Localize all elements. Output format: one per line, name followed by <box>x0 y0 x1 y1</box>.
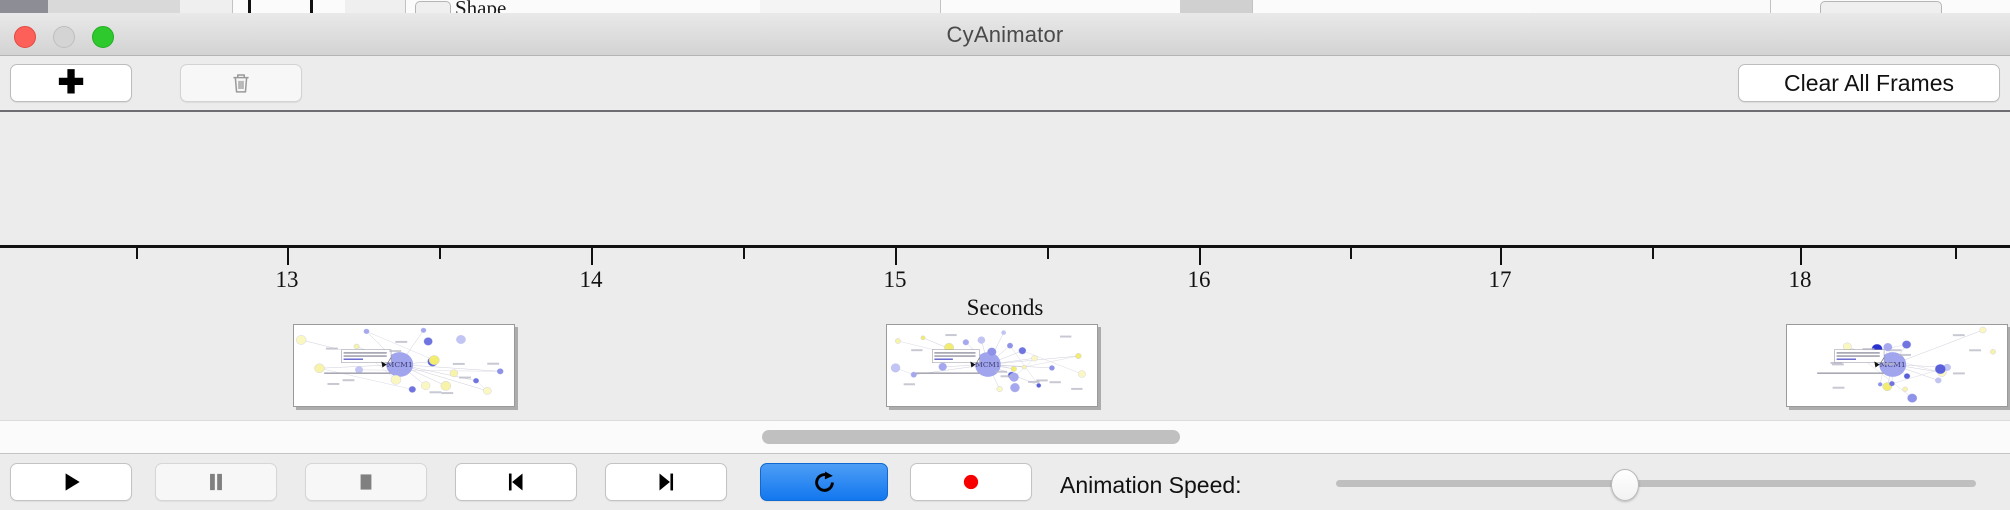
toolbar: ✚ Clear All Frames <box>0 56 2010 112</box>
axis-tick-major <box>895 248 897 265</box>
trash-icon <box>228 70 254 96</box>
timeline-frame-thumbnail[interactable]: MCM1 <box>886 324 1098 407</box>
horizontal-scrollbar[interactable] <box>0 420 2010 454</box>
axis-tick-label: 15 <box>884 267 907 293</box>
stop-icon <box>353 469 379 495</box>
axis-tick-minor <box>1955 248 1957 259</box>
plus-icon: ✚ <box>58 66 85 98</box>
stop-button[interactable] <box>305 463 427 501</box>
axis-tick-minor <box>1047 248 1049 259</box>
axis-tick-minor <box>1350 248 1352 259</box>
axis-tick-label: 16 <box>1188 267 1211 293</box>
delete-frame-button[interactable] <box>180 64 302 102</box>
cyanimator-window: Shape CyAnimator ✚ Clear All Frames MCM1… <box>0 0 2010 510</box>
animation-speed-slider[interactable] <box>1336 480 1976 487</box>
timeline-axis <box>0 245 2010 248</box>
record-icon <box>958 469 984 495</box>
timeline-frame-thumbnail[interactable]: MCM1 <box>293 324 515 407</box>
play-button[interactable] <box>10 463 132 501</box>
title-bar: CyAnimator <box>0 13 2010 56</box>
axis-tick-label: 13 <box>276 267 299 293</box>
timeline-panel[interactable]: MCM1MCM1MCM1 2131415161718 Seconds <box>0 112 2010 420</box>
pause-button[interactable] <box>155 463 277 501</box>
background-window-label: Shape <box>455 0 506 13</box>
skip-start-icon <box>503 469 529 495</box>
playback-bar: Animation Speed: <box>0 454 2010 510</box>
record-button[interactable] <box>910 463 1032 501</box>
timeline-frame-thumbnail[interactable]: MCM1 <box>1786 324 2008 407</box>
clear-all-frames-button[interactable]: Clear All Frames <box>1738 64 2000 102</box>
axis-tick-label: 18 <box>1789 267 1812 293</box>
add-frame-button[interactable]: ✚ <box>10 64 132 102</box>
axis-tick-minor <box>136 248 138 259</box>
axis-tick-major <box>1199 248 1201 265</box>
loop-icon <box>811 469 838 496</box>
previous-button[interactable] <box>455 463 577 501</box>
axis-tick-major <box>1800 248 1802 265</box>
pause-icon <box>203 469 229 495</box>
axis-tick-minor <box>1652 248 1654 259</box>
background-window-strip: Shape <box>0 0 2010 13</box>
animation-speed-label: Animation Speed: <box>1060 472 1242 499</box>
axis-title: Seconds <box>0 295 2010 321</box>
scrollbar-thumb[interactable] <box>762 430 1180 444</box>
window-title: CyAnimator <box>0 22 2010 48</box>
skip-end-icon <box>653 469 679 495</box>
loop-button[interactable] <box>760 463 888 501</box>
next-button[interactable] <box>605 463 727 501</box>
play-icon <box>58 469 84 495</box>
axis-tick-major <box>1500 248 1502 265</box>
animation-speed-slider-thumb[interactable] <box>1611 469 1639 501</box>
axis-tick-minor <box>743 248 745 259</box>
axis-tick-label: 17 <box>1489 267 1512 293</box>
axis-tick-major <box>287 248 289 265</box>
axis-tick-minor <box>439 248 441 259</box>
axis-tick-label: 14 <box>580 267 603 293</box>
axis-tick-major <box>591 248 593 265</box>
